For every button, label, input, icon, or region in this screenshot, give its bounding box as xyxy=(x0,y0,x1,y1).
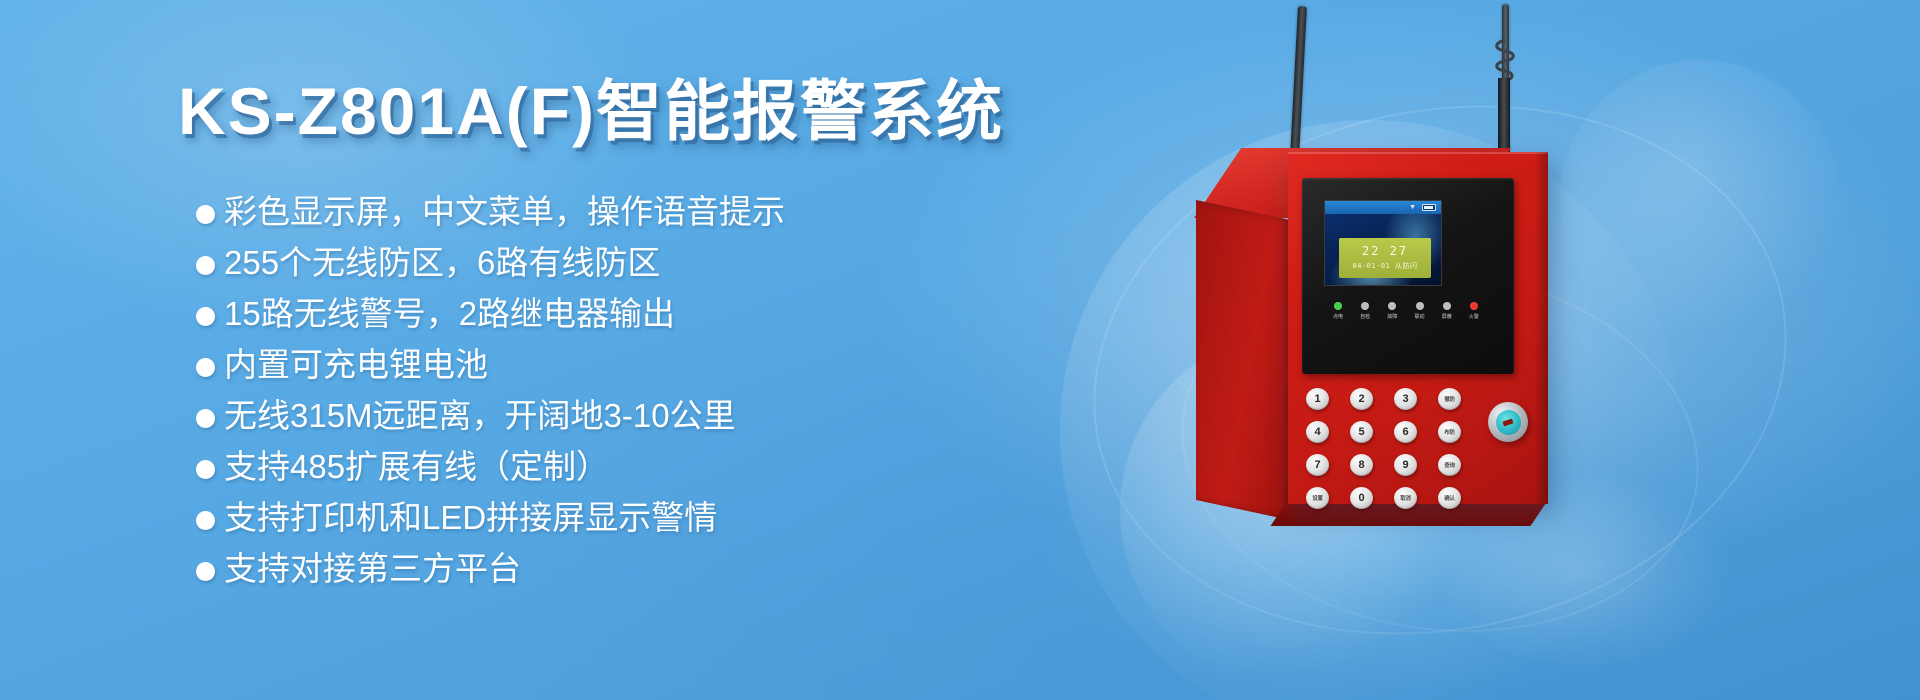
feature-text: 无线315M远距离，开阔地3-10公里 xyxy=(224,397,736,436)
led-label: 自检 xyxy=(1360,313,1370,320)
bullet-icon xyxy=(196,358,215,377)
led-dot-icon xyxy=(1334,302,1342,310)
led-dot-icon xyxy=(1416,302,1424,310)
keypad-key-8[interactable]: 8 xyxy=(1350,454,1373,476)
list-item: 支持485扩展有线（定制） xyxy=(196,448,785,487)
bullet-icon xyxy=(196,562,215,581)
bullet-icon xyxy=(196,409,215,428)
keypad-key-6[interactable]: 6 xyxy=(1394,421,1417,443)
keypad-key-settings[interactable]: 设置 xyxy=(1306,487,1329,509)
bullet-icon xyxy=(196,307,215,326)
keypad-key-7[interactable]: 7 xyxy=(1306,454,1329,476)
bullet-icon xyxy=(196,256,215,275)
key-lock-core xyxy=(1496,410,1521,435)
keypad-key-1[interactable]: 1 xyxy=(1306,388,1329,410)
lcd-wallpaper: 22 27 04-01-01 从防闪 xyxy=(1325,214,1441,286)
led-label: 屏蔽 xyxy=(1442,313,1452,320)
feature-text: 内置可充电锂电池 xyxy=(224,346,488,385)
signal-icon: ▼ xyxy=(1409,204,1416,211)
bullet-icon xyxy=(196,205,215,224)
indicator-led-row: 点电 自检 故障 联动 屏蔽 xyxy=(1326,302,1486,320)
keypad-key-2[interactable]: 2 xyxy=(1350,388,1373,410)
led-dot-icon xyxy=(1361,302,1369,310)
feature-text: 彩色显示屏，中文菜单，操作语音提示 xyxy=(224,193,785,232)
alarm-control-panel: ▼ 22 27 04-01-01 从防闪 点电 自检 xyxy=(1130,0,1920,700)
keypad-key-arm[interactable]: 布防 xyxy=(1438,421,1461,443)
keypad[interactable]: 1 2 3 撤防 4 5 6 布防 7 8 9 查询 设置 0 取消 确认 xyxy=(1306,388,1468,511)
feature-text: 支持485扩展有线（定制） xyxy=(224,448,609,487)
keypad-key-confirm[interactable]: 确认 xyxy=(1438,487,1461,509)
led-label: 故障 xyxy=(1387,313,1397,320)
battery-icon xyxy=(1422,204,1436,211)
list-item: 支持打印机和LED拼接屏显示警情 xyxy=(196,499,785,538)
keypad-key-3[interactable]: 3 xyxy=(1394,388,1417,410)
indicator-led: 自检 xyxy=(1353,302,1377,320)
list-item: 内置可充电锂电池 xyxy=(196,346,785,385)
lcd-date-status: 04-01-01 从防闪 xyxy=(1353,261,1418,271)
keypad-key-query[interactable]: 查询 xyxy=(1438,454,1461,476)
feature-text: 15路无线警号，2路继电器输出 xyxy=(224,295,675,334)
indicator-led: 屏蔽 xyxy=(1435,302,1459,320)
keypad-key-cancel[interactable]: 取消 xyxy=(1394,487,1417,509)
list-item: 255个无线防区，6路有线防区 xyxy=(196,244,785,283)
led-dot-icon xyxy=(1443,302,1451,310)
page-title: KS-Z801A(F)智能报警系统 xyxy=(178,58,1004,154)
key-lock-slot-icon xyxy=(1502,418,1513,426)
list-item: 15路无线警号，2路继电器输出 xyxy=(196,295,785,334)
feature-text: 255个无线防区，6路有线防区 xyxy=(224,244,660,283)
keypad-key-9[interactable]: 9 xyxy=(1394,454,1417,476)
list-item: 支持对接第三方平台 xyxy=(196,550,785,589)
bullet-icon xyxy=(196,460,215,479)
control-faceplate: ▼ 22 27 04-01-01 从防闪 点电 自检 xyxy=(1302,178,1514,374)
key-switch-lock[interactable] xyxy=(1488,402,1528,442)
indicator-led: 点电 xyxy=(1326,302,1350,320)
led-label: 联动 xyxy=(1415,313,1425,320)
keypad-key-4[interactable]: 4 xyxy=(1306,421,1329,443)
lcd-status-bar: ▼ xyxy=(1325,201,1441,214)
led-dot-icon xyxy=(1470,302,1478,310)
lcd-info-panel: 22 27 04-01-01 从防闪 xyxy=(1339,238,1431,278)
led-label: 点电 xyxy=(1333,313,1343,320)
feature-text: 支持打印机和LED拼接屏显示警情 xyxy=(224,499,717,538)
banner-content: KS-Z801A(F)智能报警系统 彩色显示屏，中文菜单，操作语音提示 255个… xyxy=(0,0,1100,700)
bullet-icon xyxy=(196,511,215,530)
indicator-led: 联动 xyxy=(1408,302,1432,320)
enclosure-side xyxy=(1196,200,1290,520)
list-item: 彩色显示屏，中文菜单，操作语音提示 xyxy=(196,193,785,232)
indicator-led: 火警 xyxy=(1462,302,1486,320)
keypad-key-disarm[interactable]: 撤防 xyxy=(1438,388,1461,410)
product-banner: KS-Z801A(F)智能报警系统 彩色显示屏，中文菜单，操作语音提示 255个… xyxy=(0,0,1920,700)
feature-list: 彩色显示屏，中文菜单，操作语音提示 255个无线防区，6路有线防区 15路无线警… xyxy=(196,193,785,601)
feature-text: 支持对接第三方平台 xyxy=(224,550,521,589)
led-dot-icon xyxy=(1388,302,1396,310)
lcd-clock: 22 27 xyxy=(1362,245,1408,258)
keypad-key-0[interactable]: 0 xyxy=(1350,487,1373,509)
indicator-led: 故障 xyxy=(1380,302,1404,320)
led-label: 火警 xyxy=(1469,313,1479,320)
lcd-display: ▼ 22 27 04-01-01 从防闪 xyxy=(1324,200,1442,286)
list-item: 无线315M远距离，开阔地3-10公里 xyxy=(196,397,785,436)
antenna-coil-icon xyxy=(1488,38,1522,82)
keypad-key-5[interactable]: 5 xyxy=(1350,421,1373,443)
